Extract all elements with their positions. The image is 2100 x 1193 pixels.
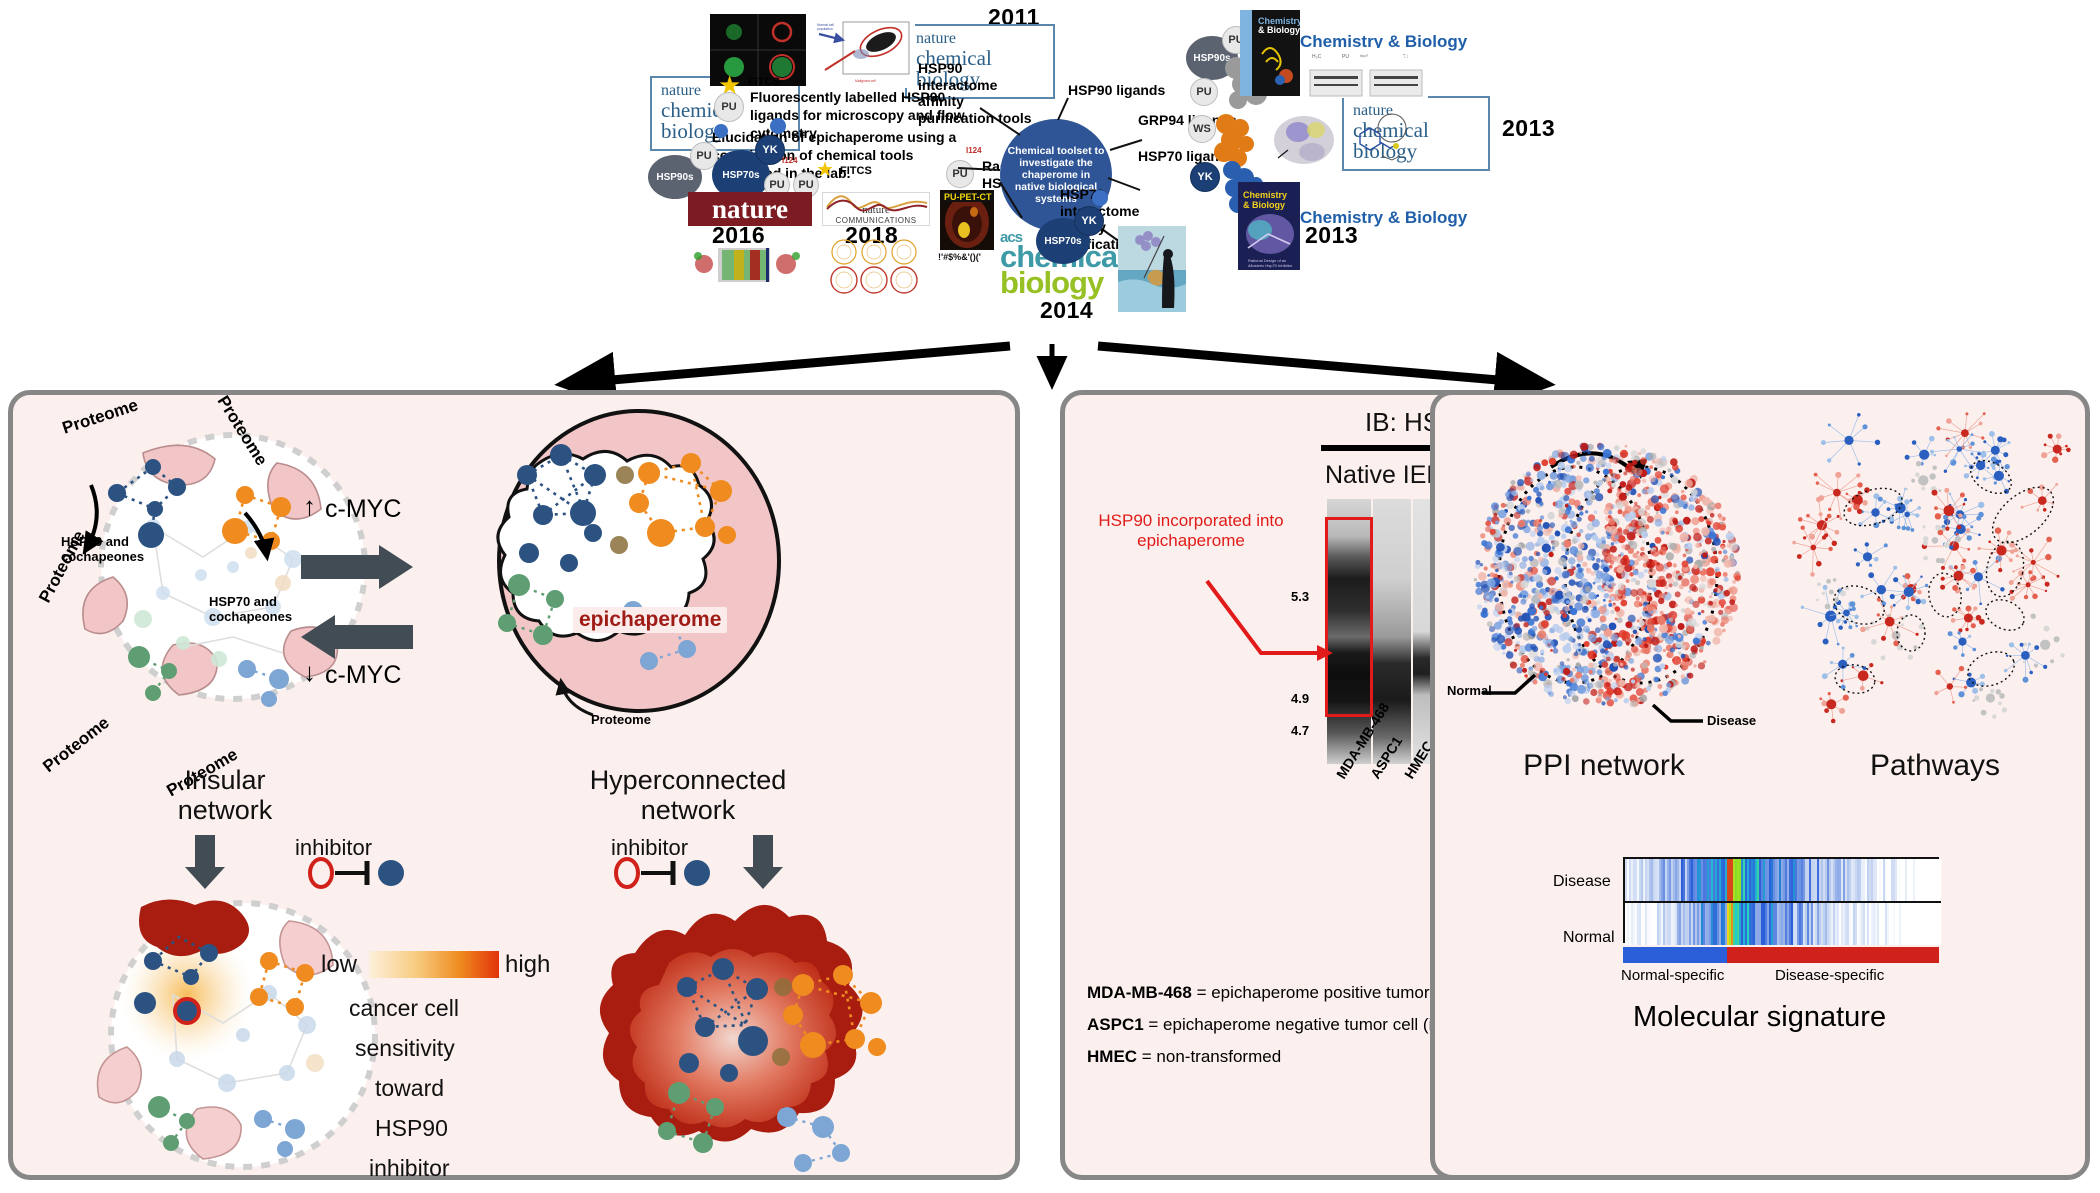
legend-line-3: toward [375,1075,444,1102]
yk-chip-3: YK [1074,206,1104,236]
ppi-callout-lines [1445,635,1765,745]
chem-biology-title-2: Chemistry & Biology [1300,208,1467,228]
label-proteome-6: Proteome [591,713,651,728]
hyperconnected-sensitivity-cell [591,891,911,1181]
ief-pi-4-7: 4.7 [1291,723,1309,738]
pu-chip-1: PU [714,92,744,122]
annotation-hsp90-epichaperome-left: HSP90 incorporated into epichaperome [1081,511,1301,552]
svg-text:Malignant cell: Malignant cell [855,79,876,83]
hyper-line2: network [641,795,736,825]
panel-epichaperome-model: Proteome Proteome Proteome Proteome Prot… [8,390,1020,1180]
label-inhibitor-right: inhibitor [611,835,688,861]
legend-term-aspc1: ASPC1 [1087,1015,1144,1034]
svg-text:ʰᵖ⁹⁰: ʰᵖ⁹⁰ [1360,54,1368,60]
arrow-to-left-panel [565,346,1010,384]
logo-nature: nature [688,192,812,226]
year-2013-ncb: 2013 [1502,115,1555,142]
label-low: low [321,951,357,979]
connector-arrows [0,300,2100,400]
insular-line2: network [178,795,273,825]
svg-text:PU: PU [1342,54,1349,60]
legend-line-4: HSP90 [375,1115,448,1142]
svg-text:H₃C: H₃C [1312,54,1322,60]
spacer [1128,226,1130,228]
heatmap-row-label-disease: Disease [1553,873,1611,891]
label-hsp90-cochaperones: HSP90 and cochapeones [61,535,171,565]
pu-chip-radiolabel: PU [946,160,974,188]
legend-line-1: cancer cell [349,995,459,1022]
pu-chip-6: PU [1190,78,1218,106]
label-high: high [505,951,550,979]
arrow-to-right-panel [1098,346,1545,384]
molecular-signature-heatmap [1623,857,1939,943]
label-epichaperome: epichaperome [573,607,727,633]
svg-text:Allosteric Hsp70 Inhibitor: Allosteric Hsp70 Inhibitor [1248,263,1293,268]
ief-pi-4-9: 4.9 [1291,691,1309,706]
natcomm-line2: COMMUNICATIONS [835,216,916,225]
annotation-left-arrow-icon [1205,579,1335,689]
iodine-label-1: I124 [782,156,798,165]
ligand-chemical-structure [1352,112,1414,168]
fitcs-label-2: FITCS [840,165,872,177]
pu-pet-ct-image: PU-PET-CT [940,190,994,250]
iodine-label-2: I124 [966,146,982,155]
heatmap-row-label-normal: Normal [1563,929,1615,947]
yk-chip-1: YK [755,135,785,165]
title-ppi-network: PPI network [1489,749,1719,783]
label-proteome-4: Proteome [39,713,113,777]
heatmap-bar-label-disease-specific: Disease-specific [1775,967,1884,984]
legend-desc-hmec: = non-transformed [1137,1047,1281,1066]
bidirectional-transition-arrows [295,541,435,671]
heatmap-group-bars [1623,947,1939,963]
legend-row-hmec: HMEC = non-transformed [1087,1047,1281,1067]
legend-line-5: inhibitor [369,1155,450,1182]
epichaperome-cell-diagram [443,403,843,723]
logo-nature-communications: nature COMMUNICATIONS [822,192,930,226]
svg-text:& Biology: & Biology [1243,200,1285,210]
flow-cytometry-plot: Normal cell population Malignant cell [815,18,915,88]
spoke-hsp90-interactome: HSP90 interactome affinity purification … [918,60,1036,126]
ligand-dot-4 [1092,190,1108,206]
legend-term-mda: MDA-MB-468 [1087,983,1192,1002]
svg-text:population: population [817,27,833,31]
circos-thumbnail-2018 [828,238,932,294]
title-insular-network: Insular network [125,765,325,825]
legend-line-2: sensitivity [355,1035,455,1062]
ppi-label-disease: Disease [1707,713,1756,728]
binding-pocket-structure [1270,110,1346,170]
ncb-line1: nature [916,31,1044,47]
fitcs-label-1: FITCS [748,76,780,88]
heatmap-thumbnail-2016 [690,238,820,290]
label-inhibitor-left: inhibitor [295,835,372,861]
panel-network-analysis: Normal Disease PPI network Pathways Dise… [1430,390,2090,1180]
svg-text:᷈ᷧ: ᷈ᷧ [1402,53,1408,60]
gel-scan-thumbnails: H₃CPUʰᵖ⁹⁰᷈ᷧ [1308,48,1428,98]
title-hyperconnected-network: Hyperconnected network [543,765,833,825]
cmyc-up-arrow-icon: ↑ [303,491,316,522]
sensitivity-gradient-bar [369,951,499,978]
figure-root: 2011 2011 2016 2018 2014 2013 2013 natur… [0,0,2100,1193]
gel-title-native-ief: Native IEF [1325,461,1442,490]
spoke-hsp90-ligands: HSP90 ligands [1068,82,1165,99]
pathways-graph [1795,419,2075,719]
ppi-label-normal: Normal [1447,683,1492,698]
pet-caption-glyphs: !'#$%&'()(' [938,252,981,262]
title-pathways: Pathways [1835,749,2035,783]
caption-molecular-signature: Molecular signature [1633,1001,1886,1034]
hyper-line1: Hyperconnected [590,765,787,795]
svg-text:Chemistry: Chemistry [1243,190,1287,200]
heatmap-bar-label-normal-specific: Normal-specific [1621,967,1724,984]
fitcs-star-icon-2: ★ [816,160,834,180]
ligand-dot-1 [770,118,786,134]
pu-pet-ct-label: PU-PET-CT [942,192,994,202]
cover-chem-biology-purple: Chemistry & Biology Rational Design of a… [1238,182,1300,270]
svg-text:& Biology: & Biology [1258,25,1300,35]
insular-line1: Insular [184,765,265,795]
legend-term-hmec: HMEC [1087,1047,1137,1066]
label-cmyc-up: c-MYC [325,495,401,524]
cover-chem-biology-dark: Chemistry & Biology [1240,10,1300,96]
ligand-dot-2 [714,124,728,138]
